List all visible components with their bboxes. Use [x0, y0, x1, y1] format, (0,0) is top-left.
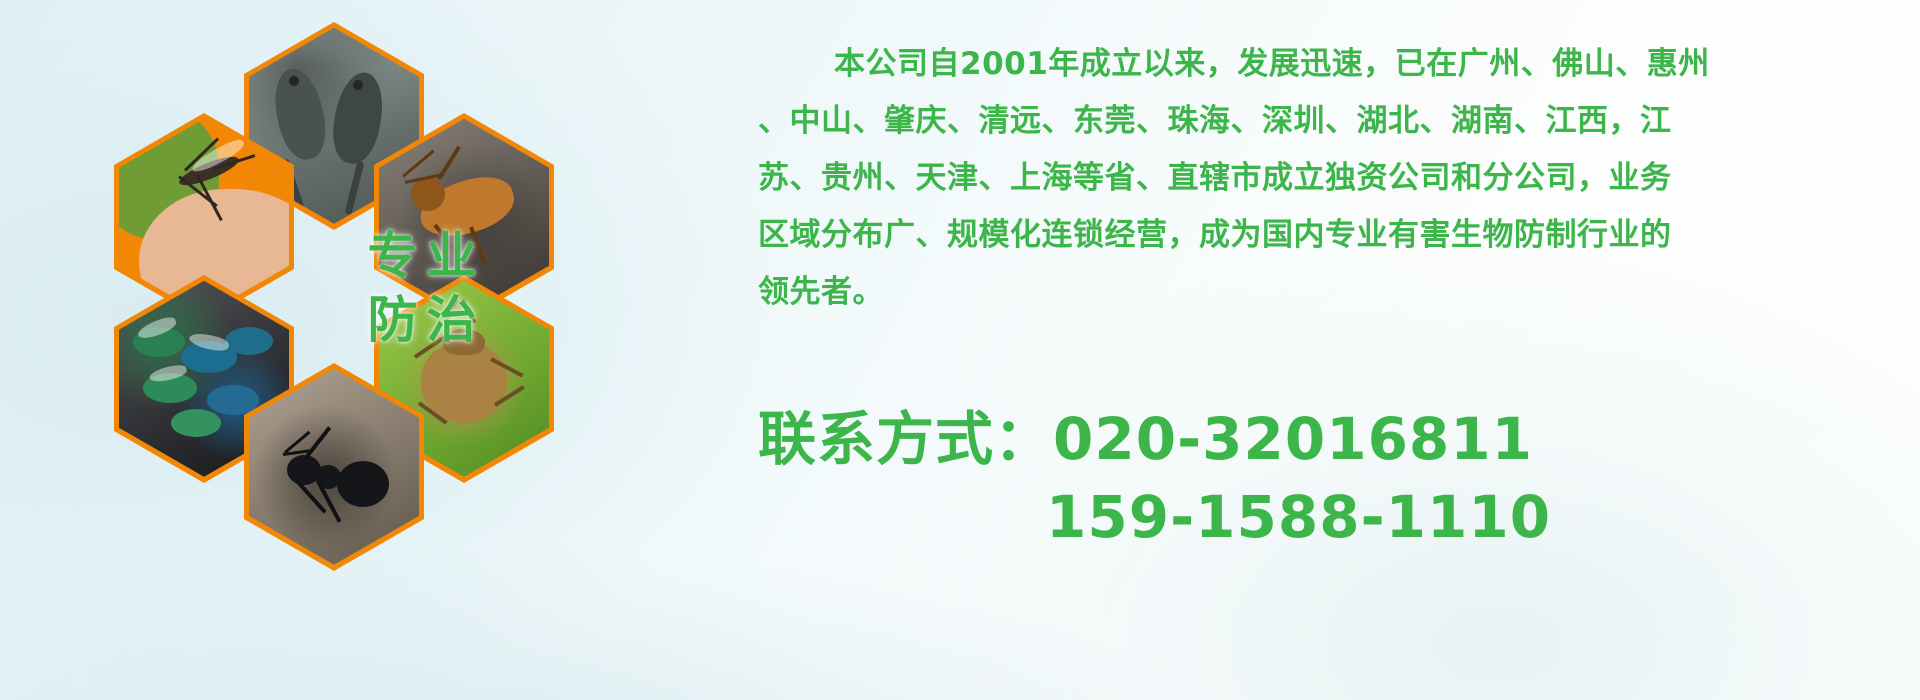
hex-label-line-2: 防治: [359, 295, 486, 345]
promo-banner: 专业 防治 本公司自2001年成立以来，发展迅速，已在广州、佛山、惠州 、中山、…: [0, 0, 1920, 700]
intro-line-4: 区域分布广、规模化连锁经营，成为国内专业有害生物防制行业的: [758, 207, 1888, 264]
hex-label-line-1: 专业: [359, 231, 486, 281]
intro-line-1: 本公司自2001年成立以来，发展迅速，已在广州、佛山、惠州: [758, 36, 1888, 93]
hexagon-photo-cluster: 专业 防治: [86, 8, 586, 568]
ant-image: [249, 369, 419, 565]
hex-center-label: 专业 防治: [332, 198, 512, 378]
intro-line-2: 、中山、肇庆、清远、东莞、珠海、深圳、湖北、湖南、江西，江: [758, 93, 1888, 150]
contact-phone-secondary[interactable]: 159-1588-1110: [758, 478, 1908, 556]
intro-line-5: 领先者。: [758, 264, 1888, 321]
contact-phone-primary[interactable]: 联系方式：020-32016811: [758, 400, 1908, 478]
intro-line-3: 苏、贵州、天津、上海等省、直辖市成立独资公司和分公司，业务: [758, 150, 1888, 207]
company-intro-text: 本公司自2001年成立以来，发展迅速，已在广州、佛山、惠州 、中山、肇庆、清远、…: [758, 36, 1888, 321]
contact-block: 联系方式：020-32016811 159-1588-1110: [758, 400, 1908, 556]
hex-photo-ant-inner: [249, 369, 419, 565]
